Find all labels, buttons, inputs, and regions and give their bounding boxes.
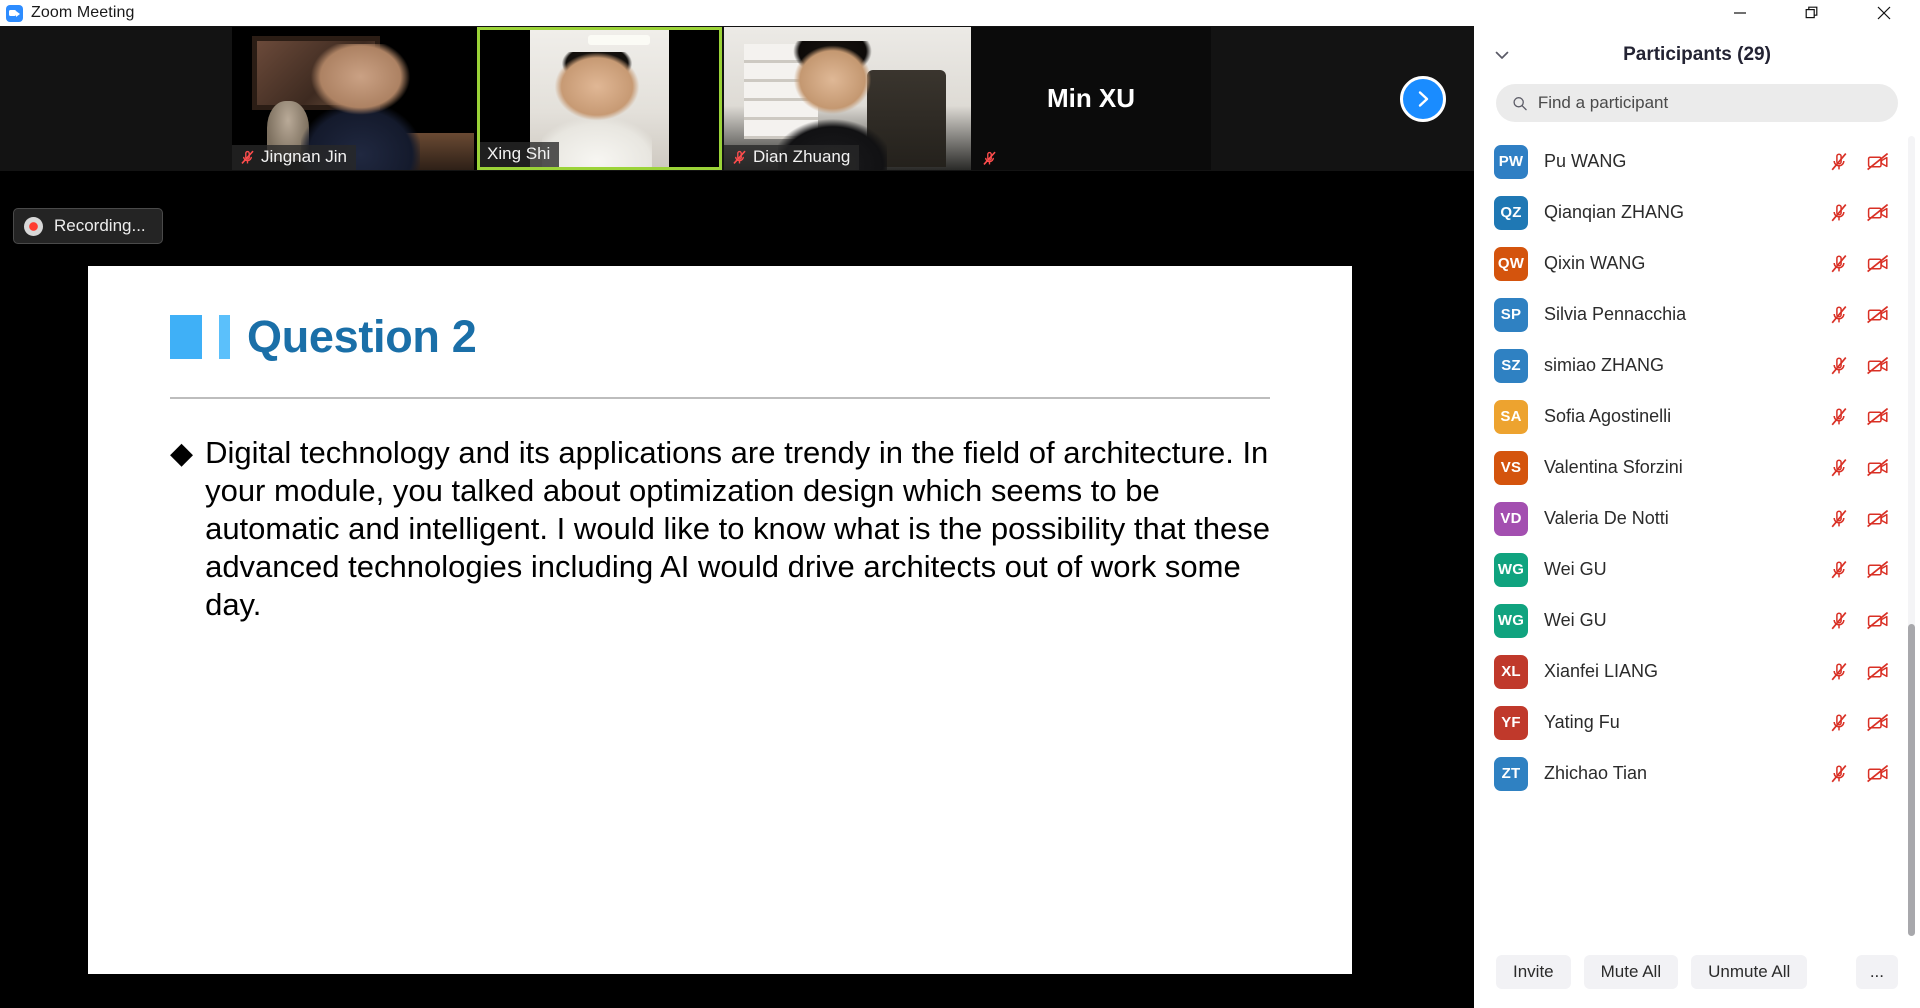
participant-row[interactable]: QZ Qianqian ZHANG (1482, 187, 1920, 238)
participant-row[interactable]: WG Wei GU (1482, 595, 1920, 646)
video-off-icon[interactable] (1866, 202, 1890, 224)
participants-scrollbar[interactable] (1908, 136, 1915, 936)
slide-title: Question 2 (247, 311, 477, 363)
video-tile-name: Dian Zhuang (753, 147, 850, 167)
participant-name: Wei GU (1544, 610, 1828, 631)
participant-status-icons (1828, 763, 1890, 785)
video-off-icon[interactable] (1866, 457, 1890, 479)
slide-body: ◆ Digital technology and its application… (170, 434, 1280, 624)
chevron-down-icon[interactable] (1489, 42, 1515, 68)
video-off-icon[interactable] (1866, 712, 1890, 734)
participants-list[interactable]: PW Pu WANG QZ Qianqian ZHANG QW Qixin WA… (1474, 136, 1920, 936)
participant-name: Qixin WANG (1544, 253, 1828, 274)
meeting-area: Jingnan Jin Xing Shi (0, 26, 1474, 1008)
search-input[interactable] (1538, 93, 1882, 113)
microphone-muted-icon[interactable] (1828, 763, 1850, 785)
participant-name: Zhichao Tian (1544, 763, 1828, 784)
search-container (1474, 84, 1920, 136)
microphone-muted-icon[interactable] (1828, 457, 1850, 479)
participant-name: Sofia Agostinelli (1544, 406, 1828, 427)
video-off-icon[interactable] (1866, 406, 1890, 428)
participant-status-icons (1828, 355, 1890, 377)
participant-row[interactable]: XL Xianfei LIANG (1482, 646, 1920, 697)
video-tile-label (971, 148, 1007, 170)
participant-row[interactable]: YF Yating Fu (1482, 697, 1920, 748)
avatar: PW (1494, 145, 1528, 179)
participant-row[interactable]: QW Qixin WANG (1482, 238, 1920, 289)
participant-status-icons (1828, 661, 1890, 683)
participant-name: Silvia Pennacchia (1544, 304, 1828, 325)
recording-label: Recording... (54, 216, 146, 236)
video-off-icon[interactable] (1866, 151, 1890, 173)
participant-status-icons (1828, 253, 1890, 275)
avatar: SA (1494, 400, 1528, 434)
microphone-muted-icon[interactable] (1828, 406, 1850, 428)
participant-row[interactable]: VD Valeria De Notti (1482, 493, 1920, 544)
participant-name: Xianfei LIANG (1544, 661, 1828, 682)
participant-row[interactable]: ZT Zhichao Tian (1482, 748, 1920, 799)
participant-status-icons (1828, 559, 1890, 581)
video-tile-active-speaker[interactable]: Xing Shi (477, 27, 722, 170)
video-off-icon[interactable] (1866, 355, 1890, 377)
video-off-icon[interactable] (1866, 559, 1890, 581)
video-off-icon[interactable] (1866, 304, 1890, 326)
video-tile-name: Min XU (971, 27, 1211, 170)
video-off-icon[interactable] (1866, 508, 1890, 530)
participant-status-icons (1828, 457, 1890, 479)
microphone-muted-icon (981, 150, 998, 167)
window-title: Zoom Meeting (31, 4, 134, 22)
participants-panel: Participants (29) PW Pu WANG QZ Qianqian… (1474, 26, 1920, 1008)
participant-status-icons (1828, 304, 1890, 326)
more-options-button[interactable]: ... (1856, 955, 1898, 989)
avatar: WG (1494, 604, 1528, 638)
mute-all-button[interactable]: Mute All (1584, 955, 1678, 989)
video-tile-label: Jingnan Jin (232, 145, 356, 170)
avatar: SP (1494, 298, 1528, 332)
participant-status-icons (1828, 151, 1890, 173)
participants-panel-header: Participants (29) (1474, 26, 1920, 84)
slide-accent-bar-wide (170, 315, 202, 359)
participant-row[interactable]: WG Wei GU (1482, 544, 1920, 595)
slide-body-text: Digital technology and its applications … (205, 434, 1280, 624)
video-filmstrip: Jingnan Jin Xing Shi (0, 26, 1474, 171)
microphone-muted-icon[interactable] (1828, 610, 1850, 632)
participant-status-icons (1828, 406, 1890, 428)
microphone-muted-icon[interactable] (1828, 712, 1850, 734)
participant-name: Valeria De Notti (1544, 508, 1828, 529)
avatar: SZ (1494, 349, 1528, 383)
video-off-icon[interactable] (1866, 610, 1890, 632)
next-page-button[interactable] (1400, 76, 1446, 122)
participant-row[interactable]: SP Silvia Pennacchia (1482, 289, 1920, 340)
participant-status-icons (1828, 712, 1890, 734)
search-box[interactable] (1496, 84, 1898, 122)
avatar: ZT (1494, 757, 1528, 791)
microphone-muted-icon[interactable] (1828, 661, 1850, 683)
participant-row[interactable]: SA Sofia Agostinelli (1482, 391, 1920, 442)
video-tile-no-video[interactable]: Min XU (971, 27, 1211, 170)
microphone-muted-icon (239, 149, 256, 166)
window-titlebar: Zoom Meeting (0, 0, 1920, 26)
participant-status-icons (1828, 202, 1890, 224)
presentation-slide: Question 2 ◆ Digital technology and its … (88, 266, 1352, 974)
invite-button[interactable]: Invite (1496, 955, 1571, 989)
participant-name: Pu WANG (1544, 151, 1828, 172)
minimize-button[interactable] (1704, 0, 1776, 26)
video-off-icon[interactable] (1866, 661, 1890, 683)
participant-status-icons (1828, 508, 1890, 530)
participant-status-icons (1828, 610, 1890, 632)
scrollbar-thumb[interactable] (1908, 624, 1915, 936)
search-icon (1512, 95, 1528, 112)
avatar: WG (1494, 553, 1528, 587)
record-dot-icon (24, 217, 43, 236)
participants-footer: Invite Mute All Unmute All ... (1474, 936, 1920, 1008)
video-tile-label: Dian Zhuang (724, 145, 859, 170)
video-tile[interactable]: Jingnan Jin (232, 27, 479, 170)
video-tile-name: Jingnan Jin (261, 147, 347, 167)
microphone-muted-icon[interactable] (1828, 151, 1850, 173)
close-button[interactable] (1848, 0, 1920, 26)
microphone-muted-icon[interactable] (1828, 253, 1850, 275)
restore-button[interactable] (1776, 0, 1848, 26)
avatar: QW (1494, 247, 1528, 281)
recording-indicator[interactable]: Recording... (13, 208, 163, 244)
microphone-muted-icon[interactable] (1828, 304, 1850, 326)
microphone-muted-icon (731, 149, 748, 166)
microphone-muted-icon[interactable] (1828, 202, 1850, 224)
video-off-icon[interactable] (1866, 763, 1890, 785)
microphone-muted-icon[interactable] (1828, 355, 1850, 377)
bullet-diamond-icon: ◆ (170, 434, 193, 624)
slide-accent-bar-thin (219, 315, 230, 359)
avatar: YF (1494, 706, 1528, 740)
video-off-icon[interactable] (1866, 253, 1890, 275)
video-tile-name: Xing Shi (487, 144, 550, 164)
participant-name: Wei GU (1544, 559, 1828, 580)
slide-divider (170, 397, 1270, 399)
chevron-right-icon (1413, 89, 1433, 109)
avatar: XL (1494, 655, 1528, 689)
participant-name: Yating Fu (1544, 712, 1828, 733)
participant-row[interactable]: VS Valentina Sforzini (1482, 442, 1920, 493)
microphone-muted-icon[interactable] (1828, 508, 1850, 530)
window-controls (1704, 0, 1920, 26)
participant-name: simiao ZHANG (1544, 355, 1828, 376)
participant-name: Qianqian ZHANG (1544, 202, 1828, 223)
microphone-muted-icon[interactable] (1828, 559, 1850, 581)
video-tile-label: Xing Shi (480, 142, 559, 167)
zoom-logo-icon (6, 5, 23, 22)
participant-row[interactable]: SZ simiao ZHANG (1482, 340, 1920, 391)
avatar: VS (1494, 451, 1528, 485)
unmute-all-button[interactable]: Unmute All (1691, 955, 1807, 989)
avatar: QZ (1494, 196, 1528, 230)
page-title: Participants (29) (1623, 44, 1771, 66)
video-tile[interactable]: Dian Zhuang (724, 27, 971, 170)
participant-name: Valentina Sforzini (1544, 457, 1828, 478)
avatar: VD (1494, 502, 1528, 536)
shared-screen-stage: Question 2 ◆ Digital technology and its … (0, 171, 1474, 1008)
participant-row[interactable]: PW Pu WANG (1482, 136, 1920, 187)
slide-heading: Question 2 (170, 311, 477, 363)
